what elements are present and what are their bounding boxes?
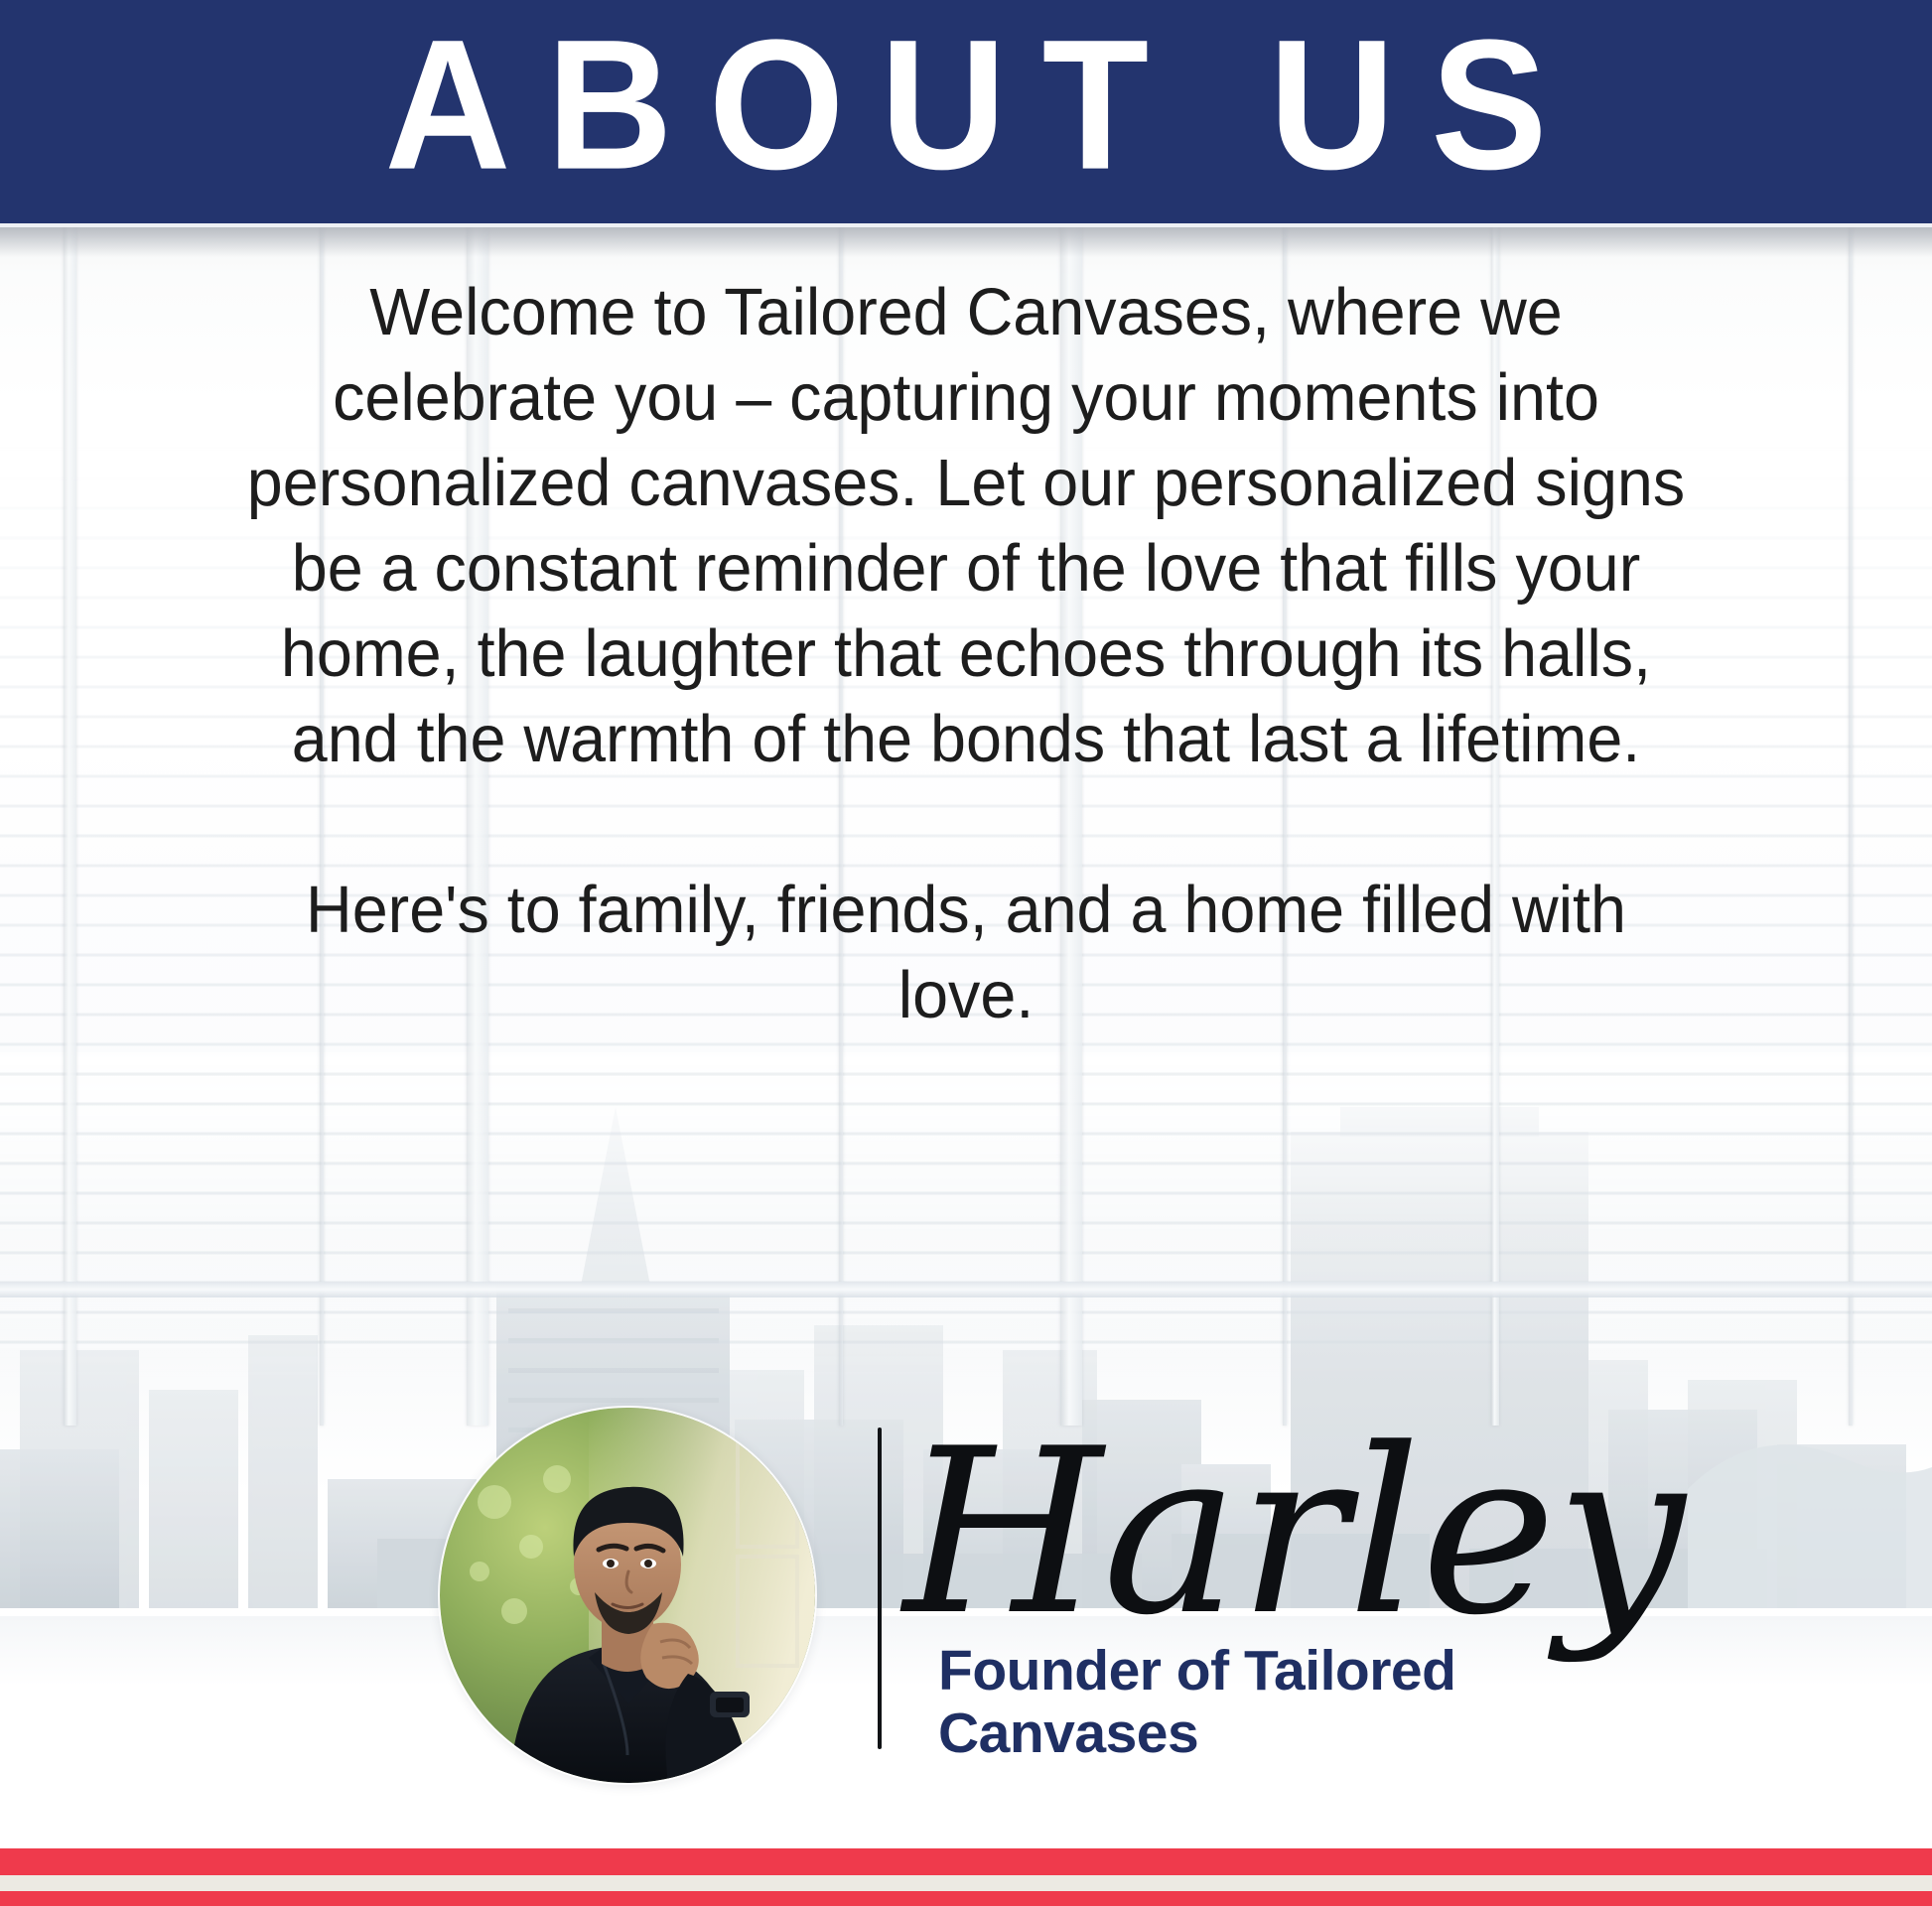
- about-paragraph-2: Here's to family, friends, and a home fi…: [238, 868, 1695, 1038]
- founder-title: Founder of Tailored Canvases: [938, 1640, 1593, 1765]
- footer-stripe-red-top: [0, 1848, 1932, 1875]
- header-underline: [0, 223, 1932, 227]
- window-mullion: [64, 185, 76, 1426]
- about-us-poster: ABOUT US Welcome to Tailored Canvases, w…: [0, 0, 1932, 1906]
- avatar: [440, 1408, 815, 1783]
- window-mullion: [1849, 185, 1853, 1426]
- paragraph-spacer: [238, 782, 1695, 868]
- footer-stripe-gap: [0, 1875, 1932, 1891]
- about-paragraph-1: Welcome to Tailored Canvases, where we c…: [238, 270, 1695, 782]
- founder-portrait-avatar: [440, 1408, 815, 1783]
- signature-divider: [878, 1428, 882, 1749]
- window-rail: [0, 1282, 1932, 1297]
- about-us-copy: Welcome to Tailored Canvases, where we c…: [238, 270, 1695, 1038]
- footer-stripe-red-bottom: [0, 1891, 1932, 1906]
- header-bar: ABOUT US: [0, 0, 1932, 223]
- page-title: ABOUT US: [348, 12, 1583, 198]
- header-shadow: [0, 227, 1932, 257]
